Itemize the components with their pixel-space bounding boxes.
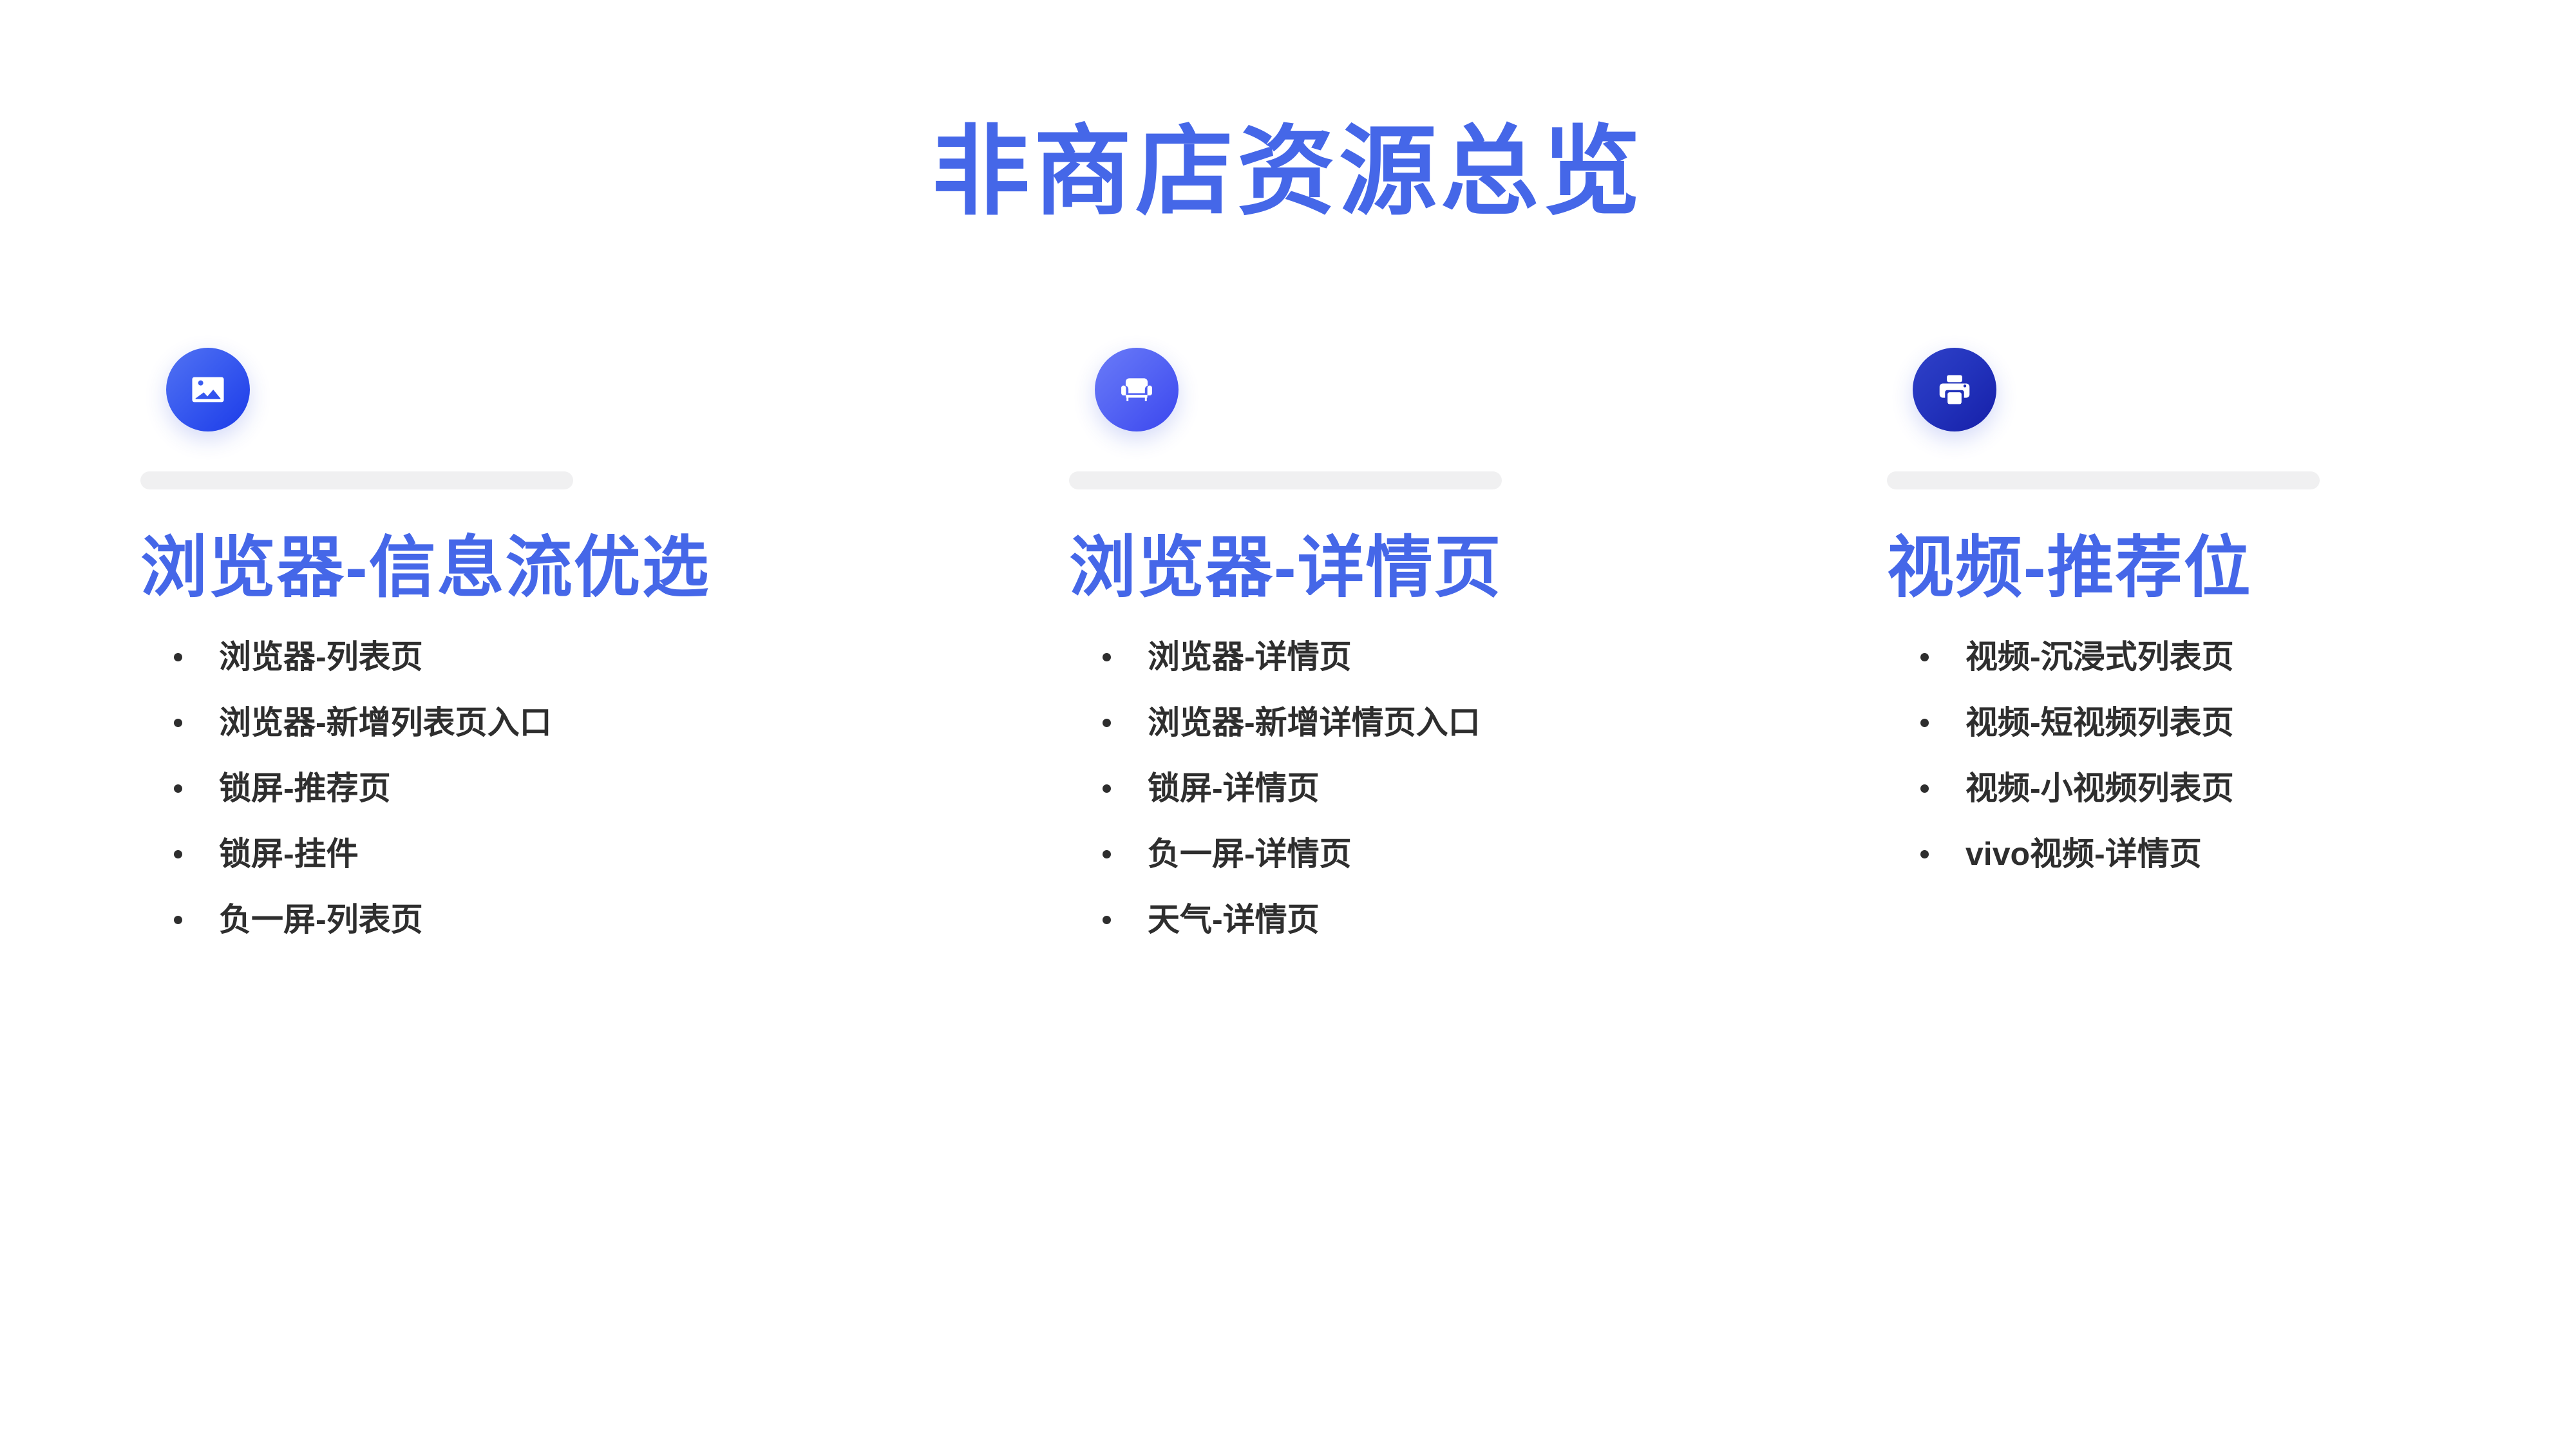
bullet-dot-icon bbox=[1103, 850, 1111, 858]
column-heading: 视频-推荐位 bbox=[1887, 525, 2576, 612]
list-item: 视频-沉浸式列表页 bbox=[1887, 639, 2576, 675]
bullet-dot-icon bbox=[1103, 653, 1111, 661]
bullet-dot-icon bbox=[174, 784, 182, 793]
list-item-label: 锁屏-详情页 bbox=[1148, 770, 1320, 806]
item-list: 浏览器-列表页 浏览器-新增列表页入口 锁屏-推荐页 锁屏-挂件 负一屏-列表页 bbox=[140, 639, 900, 938]
list-item: 浏览器-列表页 bbox=[140, 639, 900, 675]
bullet-dot-icon bbox=[174, 916, 182, 924]
list-item: vivo视频-详情页 bbox=[1887, 836, 2576, 872]
list-item: 锁屏-推荐页 bbox=[140, 770, 900, 806]
bullet-dot-icon bbox=[174, 653, 182, 661]
list-item-label: 浏览器-详情页 bbox=[1148, 639, 1352, 675]
printer-icon bbox=[1913, 348, 1996, 431]
column-heading: 浏览器-详情页 bbox=[1069, 525, 1829, 612]
list-item-label: 负一屏-列表页 bbox=[219, 902, 423, 938]
column-video-recommend: 视频-推荐位 视频-沉浸式列表页 视频-短视频列表页 视频-小视频列表页 viv… bbox=[1887, 348, 2576, 902]
list-item: 浏览器-新增列表页入口 bbox=[140, 705, 900, 741]
bullet-dot-icon bbox=[1920, 850, 1929, 858]
columns-container: 浏览器-信息流优选 浏览器-列表页 浏览器-新增列表页入口 锁屏-推荐页 锁屏-… bbox=[0, 348, 2576, 1121]
list-item: 天气-详情页 bbox=[1069, 902, 1829, 938]
list-item-label: 视频-小视频列表页 bbox=[1965, 770, 2234, 806]
armchair-icon bbox=[1095, 348, 1179, 431]
column-heading: 浏览器-信息流优选 bbox=[140, 525, 900, 612]
list-item-label: 视频-沉浸式列表页 bbox=[1965, 639, 2234, 675]
list-item-label: 锁屏-推荐页 bbox=[219, 770, 391, 806]
list-item: 负一屏-列表页 bbox=[140, 902, 900, 938]
bullet-dot-icon bbox=[1103, 916, 1111, 924]
list-item-label: 浏览器-新增详情页入口 bbox=[1148, 705, 1481, 741]
list-item-label: vivo视频-详情页 bbox=[1965, 836, 2202, 872]
list-item-label: 天气-详情页 bbox=[1148, 902, 1320, 938]
item-list: 浏览器-详情页 浏览器-新增详情页入口 锁屏-详情页 负一屏-详情页 天气-详情… bbox=[1069, 639, 1829, 938]
list-item: 视频-小视频列表页 bbox=[1887, 770, 2576, 806]
list-item-label: 锁屏-挂件 bbox=[219, 836, 359, 872]
list-item-label: 负一屏-详情页 bbox=[1148, 836, 1352, 872]
list-item-label: 视频-短视频列表页 bbox=[1965, 705, 2234, 741]
column-browser-detail: 浏览器-详情页 浏览器-详情页 浏览器-新增详情页入口 锁屏-详情页 负一屏-详… bbox=[1069, 348, 1829, 967]
bullet-dot-icon bbox=[1920, 719, 1929, 727]
divider-bar bbox=[140, 471, 573, 489]
list-item: 负一屏-详情页 bbox=[1069, 836, 1829, 872]
list-item: 锁屏-详情页 bbox=[1069, 770, 1829, 806]
bullet-dot-icon bbox=[1103, 784, 1111, 793]
list-item-label: 浏览器-新增列表页入口 bbox=[219, 705, 552, 741]
bullet-dot-icon bbox=[1103, 719, 1111, 727]
list-item-label: 浏览器-列表页 bbox=[219, 639, 423, 675]
list-item: 锁屏-挂件 bbox=[140, 836, 900, 872]
page-title: 非商店资源总览 bbox=[0, 109, 2576, 235]
bullet-dot-icon bbox=[174, 719, 182, 727]
image-icon bbox=[166, 348, 250, 431]
list-item: 视频-短视频列表页 bbox=[1887, 705, 2576, 741]
bullet-dot-icon bbox=[1920, 784, 1929, 793]
column-browser-feed: 浏览器-信息流优选 浏览器-列表页 浏览器-新增列表页入口 锁屏-推荐页 锁屏-… bbox=[140, 348, 900, 967]
list-item: 浏览器-新增详情页入口 bbox=[1069, 705, 1829, 741]
divider-bar bbox=[1887, 471, 2320, 489]
list-item: 浏览器-详情页 bbox=[1069, 639, 1829, 675]
item-list: 视频-沉浸式列表页 视频-短视频列表页 视频-小视频列表页 vivo视频-详情页 bbox=[1887, 639, 2576, 872]
divider-bar bbox=[1069, 471, 1502, 489]
slide-root: 非商店资源总览 浏览器-信息流优选 浏览器-列表页 浏览器-新增列表页入口 bbox=[0, 0, 2576, 1449]
bullet-dot-icon bbox=[1920, 653, 1929, 661]
bullet-dot-icon bbox=[174, 850, 182, 858]
